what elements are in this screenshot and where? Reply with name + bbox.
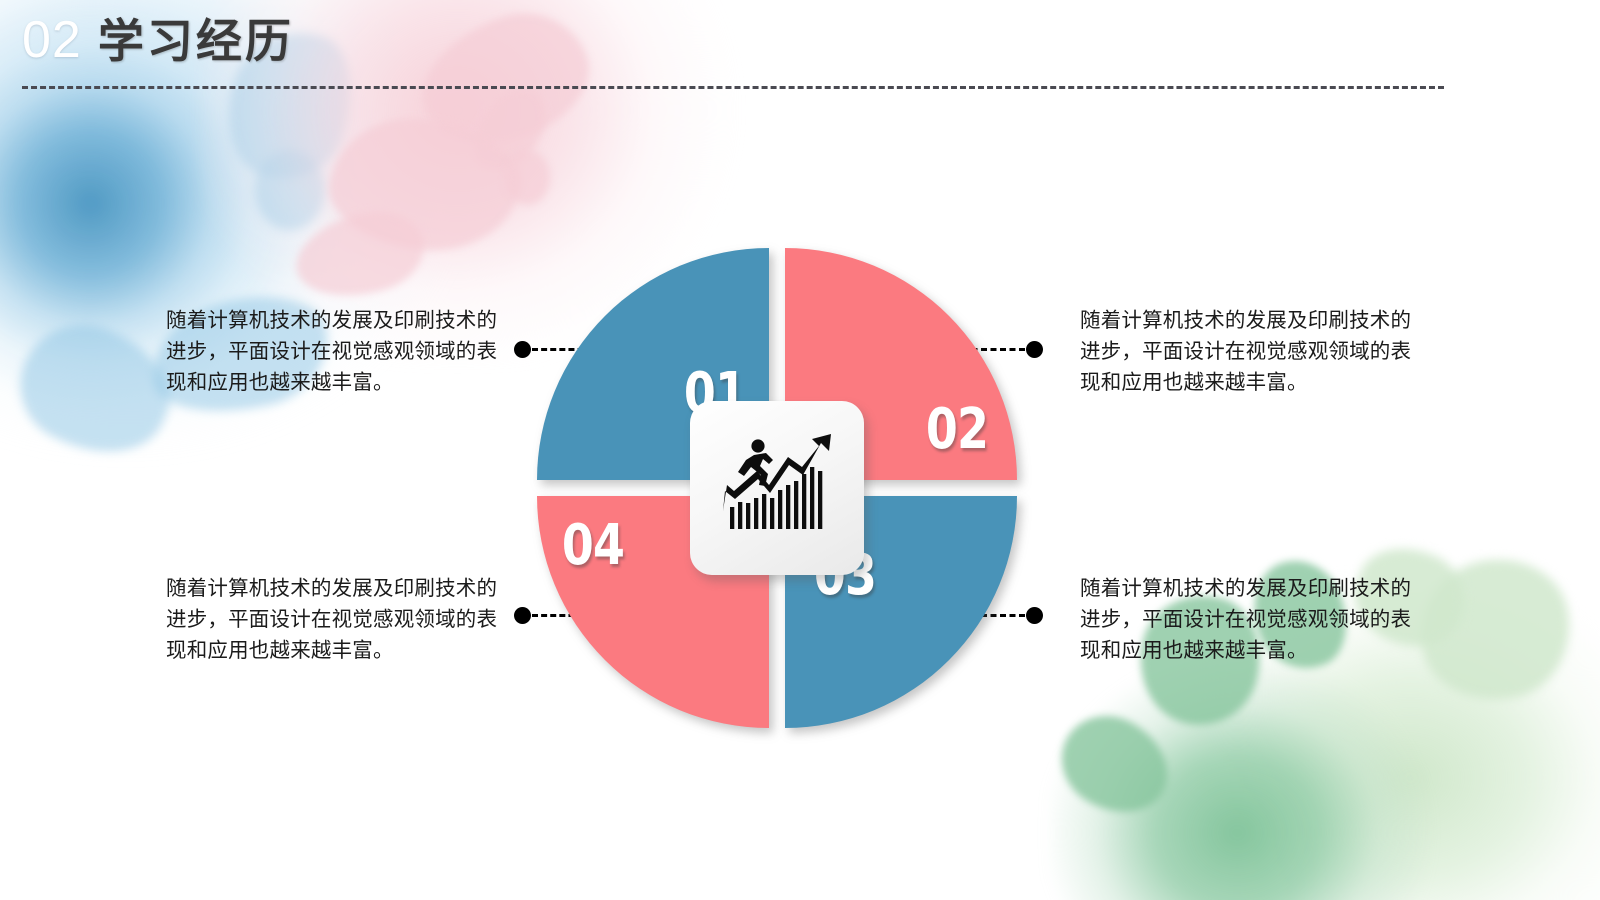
connector-dot-outer-icon [1026, 341, 1043, 358]
pink-splash-fragment [287, 200, 433, 311]
description-text-03: 随着计算机技术的发展及印刷技术的进步，平面设计在视觉感观领域的表现和应用也越来越… [1080, 573, 1428, 666]
blue-splash-fragment [2, 304, 189, 476]
page-title: 02 学习经历 [22, 14, 294, 66]
header-divider [22, 86, 1444, 89]
connector-dot-outer-icon [514, 607, 531, 624]
slide-canvas: 02 学习经历 01 [0, 0, 1600, 900]
green-dark-watercolor-splash [1050, 660, 1440, 900]
connector-dot-outer-icon [514, 341, 531, 358]
description-text-01: 随着计算机技术的发展及印刷技术的进步，平面设计在视觉感观领域的表现和应用也越来越… [166, 305, 514, 398]
description-text-02: 随着计算机技术的发展及印刷技术的进步，平面设计在视觉感观领域的表现和应用也越来越… [1080, 305, 1428, 398]
connector-dot-outer-icon [1026, 607, 1043, 624]
blue-splash-fragment [255, 150, 325, 230]
growth-chart-running-person-icon [713, 429, 841, 547]
segment-02-number: 02 [926, 402, 988, 458]
center-icon-tile[interactable] [690, 401, 864, 575]
pink-splash-fragment [322, 107, 528, 262]
description-text-04: 随着计算机技术的发展及印刷技术的进步，平面设计在视觉感观领域的表现和应用也越来越… [166, 573, 514, 666]
pink-splash-fragment [505, 150, 550, 205]
green-light-splash-fragment [1409, 548, 1581, 712]
section-number: 02 [22, 14, 82, 66]
slide-header: 02 学习经历 [0, 0, 1600, 110]
green-splash-fragment [1045, 699, 1185, 832]
segment-04-number: 04 [562, 518, 624, 574]
circular-quadrant-diagram: 01 02 03 04 [537, 248, 1017, 728]
section-heading: 学习经历 [98, 18, 294, 64]
